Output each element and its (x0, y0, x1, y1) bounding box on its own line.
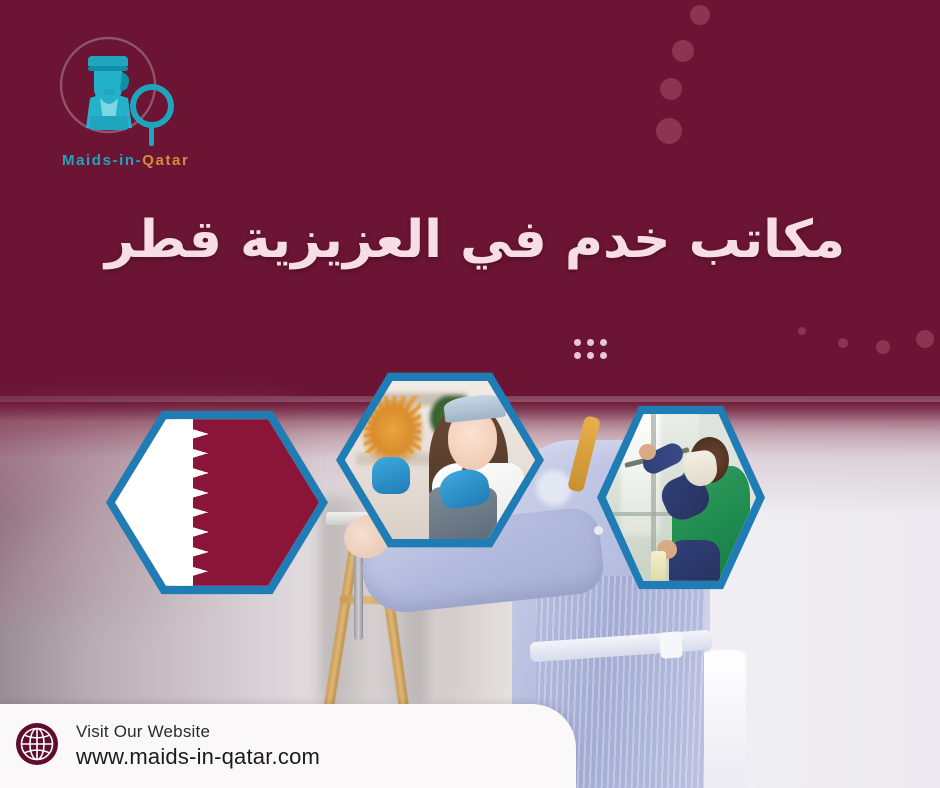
hero-sleeve-highlight (536, 470, 572, 506)
hexagon-qatar-flag-inner (115, 414, 319, 591)
maid-photo (345, 376, 535, 544)
decor-dot-4 (656, 118, 682, 144)
dot-grid-cell (600, 339, 607, 346)
brand-logo-text: Maids-in-Qatar (62, 152, 189, 169)
dot-grid-cell (587, 352, 594, 359)
brand-logo-text-secondary: Qatar (142, 152, 189, 169)
page-title: مكاتب خدم في العزيزية قطر (60, 208, 890, 273)
hexagon-window-cleaner-inner (606, 409, 756, 586)
dot-grid-cell (574, 339, 581, 346)
qatar-flag-icon (115, 414, 319, 591)
qatar-flag-serration (176, 414, 209, 591)
decor-row-dot-3 (876, 340, 890, 354)
footer-bar: Visit Our Website www.maids-in-qatar.com (0, 704, 576, 788)
decor-dot-1 (690, 5, 710, 25)
globe-icon (14, 721, 60, 772)
hero-shirt-button (594, 526, 603, 535)
footer-website-url[interactable]: www.maids-in-qatar.com (76, 745, 320, 769)
poster-root: Maids-in-Qatar مكاتب خدم في العزيزية قطر (0, 0, 940, 788)
decor-row-dot-1 (798, 327, 806, 335)
brand-logo-text-primary: Maids-in- (62, 152, 142, 169)
footer-text-block: Visit Our Website www.maids-in-qatar.com (76, 723, 320, 770)
maid-with-magnifier-icon (48, 32, 188, 152)
decor-row-dot-2 (838, 338, 848, 348)
dot-grid-cell (600, 352, 607, 359)
hexagon-maid-duster-inner (345, 376, 535, 544)
dot-grid (574, 339, 607, 359)
footer-cta-label: Visit Our Website (76, 723, 320, 742)
decor-dot-2 (672, 40, 694, 62)
decor-dot-3 (660, 78, 682, 100)
hero-belt-buckle (659, 631, 683, 658)
dot-grid-cell (587, 339, 594, 346)
dot-grid-cell (574, 352, 581, 359)
decor-row-dot-4 (916, 330, 934, 348)
brand-logo[interactable]: Maids-in-Qatar (40, 32, 200, 182)
window-cleaner-photo (606, 409, 756, 586)
